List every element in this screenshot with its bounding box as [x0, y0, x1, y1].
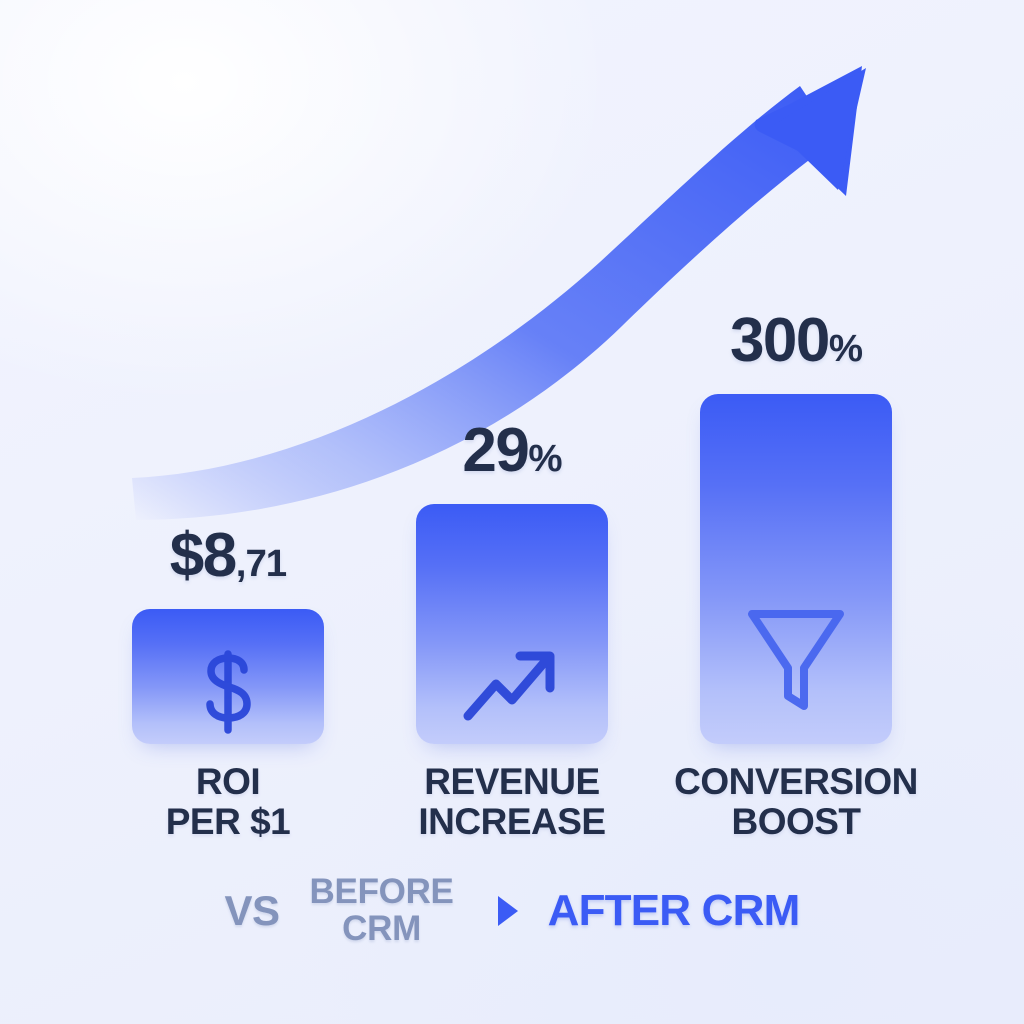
funnel-icon	[740, 602, 852, 718]
legend: VS BEFORE CRM AFTER CRM	[0, 874, 1024, 948]
bar-group-roi[interactable]: $8,71 ROI PER $1	[108, 525, 348, 842]
bar-group-conversion[interactable]: 300% CONVERSION BOOST	[676, 310, 916, 842]
legend-after-crm: AFTER CRM	[548, 886, 800, 936]
bar-shape-revenue[interactable]	[416, 504, 608, 744]
bar-shape-roi[interactable]	[132, 609, 324, 744]
bar-label-roi: ROI PER $1	[166, 762, 291, 842]
dollar-sign-icon	[196, 646, 260, 738]
bar-chart: $8,71 ROI PER $1 29% REVENUE INCREA	[0, 0, 1024, 1024]
bar-shape-conversion[interactable]	[700, 394, 892, 744]
bar-value-conversion: 300%	[730, 310, 862, 372]
infographic-canvas: $8,71 ROI PER $1 29% REVENUE INCREA	[0, 0, 1024, 1024]
bar-group-revenue[interactable]: 29% REVENUE INCREASE	[392, 420, 632, 842]
bar-label-conversion: CONVERSION BOOST	[674, 762, 918, 842]
legend-vs-label: VS	[225, 887, 280, 935]
trending-up-icon	[458, 636, 566, 728]
legend-before-crm: BEFORE CRM	[310, 874, 454, 948]
bar-value-roi: $8,71	[170, 525, 286, 587]
bar-value-revenue: 29%	[462, 420, 561, 482]
caret-right-icon	[498, 896, 518, 926]
bar-label-revenue: REVENUE INCREASE	[418, 762, 605, 842]
